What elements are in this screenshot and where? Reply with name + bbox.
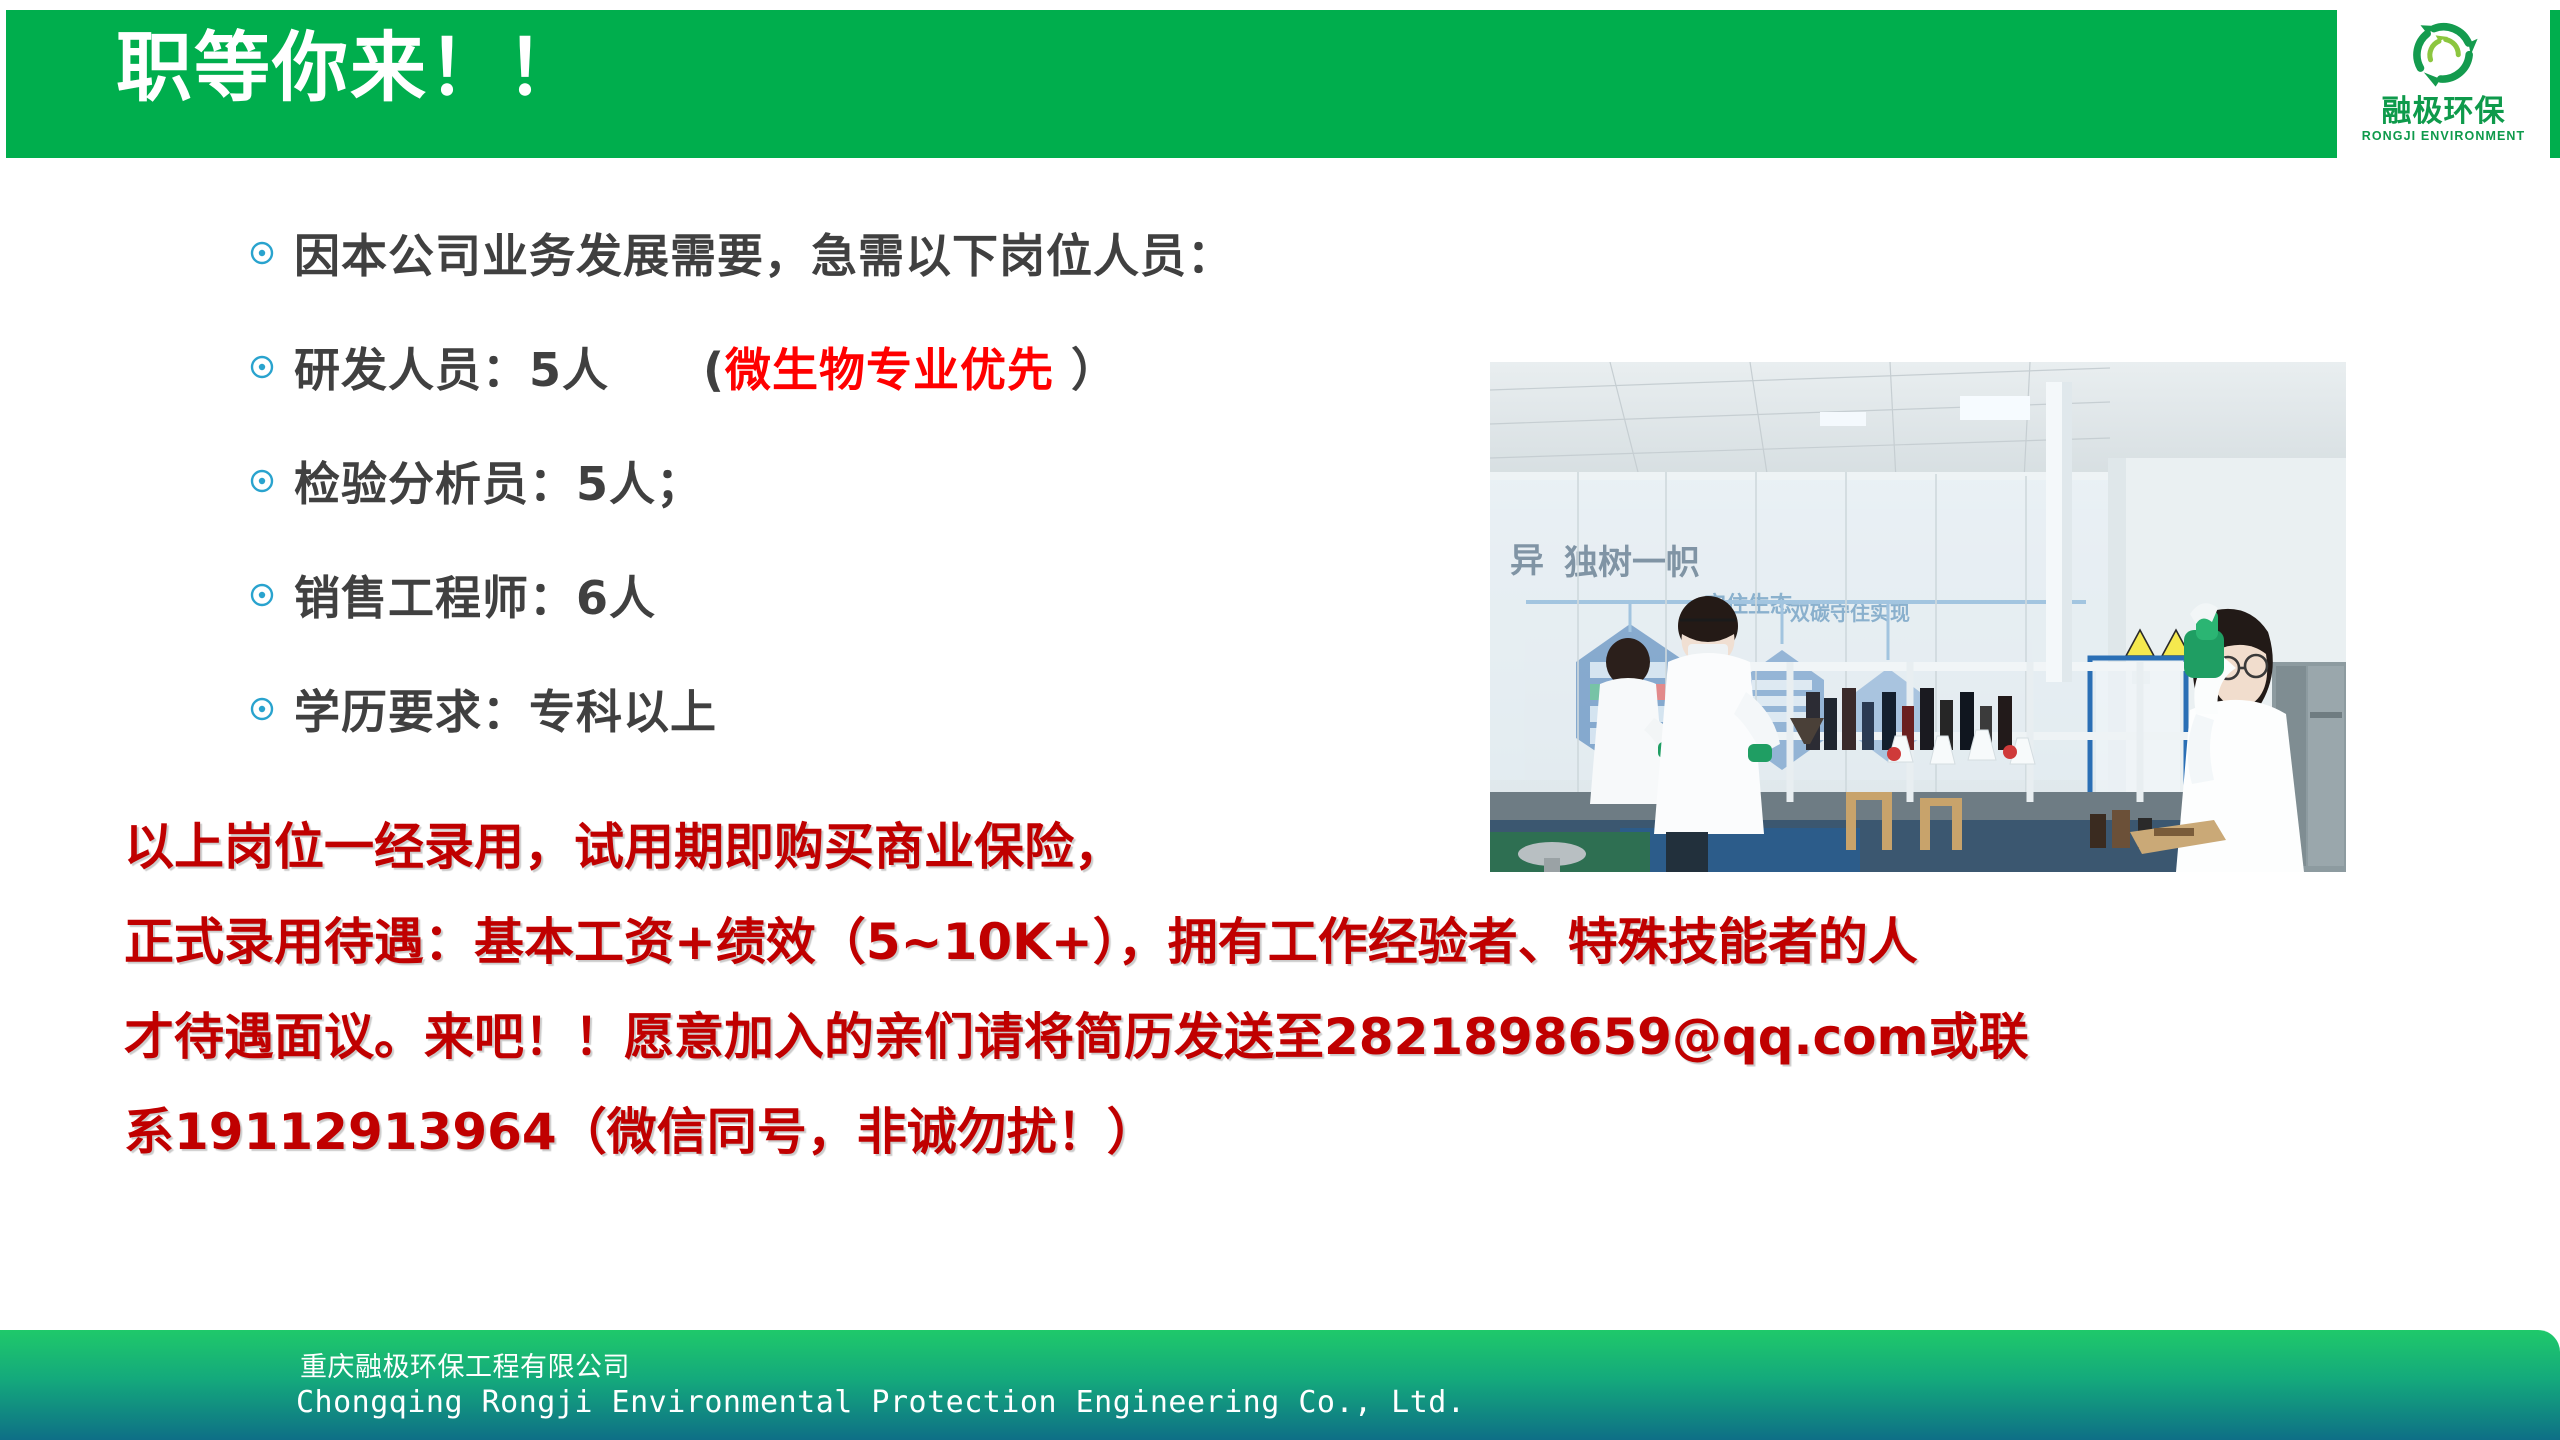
list-item-highlight: 微生物专业优先 xyxy=(725,343,1054,397)
logo-name-en: RONGJI ENVIRONMENT xyxy=(2362,130,2526,143)
slide-canvas: 职等你来！！ 融极环保 RONGJI ENVIRONMENT xyxy=(0,0,2560,1440)
list-item-label: 销售工程师：6人 xyxy=(294,562,656,628)
list-item: 研发人员：5人 (微生物专业优先 ） xyxy=(248,310,1498,424)
svg-text:异: 异 xyxy=(1510,541,1544,581)
logo-name-cn: 融极环保 xyxy=(2382,97,2506,127)
list-item: 因本公司业务发展需要，急需以下岗位人员： xyxy=(248,196,1498,310)
list-item: 学历要求：专科以上 xyxy=(248,652,1498,766)
recycle-circle-leaf-icon xyxy=(2402,11,2486,95)
svg-text:独树一帜: 独树一帜 xyxy=(1564,543,1700,583)
page-title: 职等你来！！ xyxy=(116,26,584,110)
list-item-label-rd: 研发人员：5人 (微生物专业优先 ） xyxy=(294,334,1118,400)
recruitment-notice-text: 以上岗位一经录用，试用期即购买商业保险， 正式录用待遇：基本工资+绩效（5~10… xyxy=(124,800,2504,1180)
svg-text:双碳守住实现: 双碳守住实现 xyxy=(1790,601,1910,625)
notice-line-2: 正式录用待遇：基本工资+绩效（5~10K+），拥有工作经验者、特殊技能者的人 xyxy=(124,895,2504,990)
footer-company-cn: 重庆融极环保工程有限公司 xyxy=(300,1345,630,1384)
list-item-tail: ） xyxy=(1054,343,1118,397)
circle-dot-bullet-icon xyxy=(248,239,294,267)
laboratory-team-photo: 异 独树一帜 守住生态 双碳守住实现 xyxy=(1490,362,2346,872)
circle-dot-bullet-icon xyxy=(248,695,294,723)
list-item: 销售工程师：6人 xyxy=(248,538,1498,652)
job-bullet-list: 因本公司业务发展需要，急需以下岗位人员： 研发人员：5人 (微生物专业优先 ） … xyxy=(248,196,1498,766)
footer-company-en: Chongqing Rongji Environmental Protectio… xyxy=(296,1385,1465,1420)
list-item-label: 学历要求：专科以上 xyxy=(294,676,717,742)
company-logo: 融极环保 RONGJI ENVIRONMENT xyxy=(2337,5,2550,163)
notice-line-4: 系19112913964（微信同号，非诚勿扰！） xyxy=(124,1085,2504,1180)
list-item-label: 检验分析员：5人； xyxy=(294,448,703,514)
list-item: 检验分析员：5人； xyxy=(248,424,1498,538)
list-item-label: 因本公司业务发展需要，急需以下岗位人员： xyxy=(294,220,1234,286)
circle-dot-bullet-icon xyxy=(248,467,294,495)
list-item-main: 研发人员：5人 ( xyxy=(294,343,725,397)
circle-dot-bullet-icon xyxy=(248,353,294,381)
notice-line-1: 以上岗位一经录用，试用期即购买商业保险， xyxy=(124,800,2504,895)
notice-line-3: 才待遇面议。来吧！！愿意加入的亲们请将简历发送至2821898659@qq.co… xyxy=(124,990,2504,1085)
circle-dot-bullet-icon xyxy=(248,581,294,609)
